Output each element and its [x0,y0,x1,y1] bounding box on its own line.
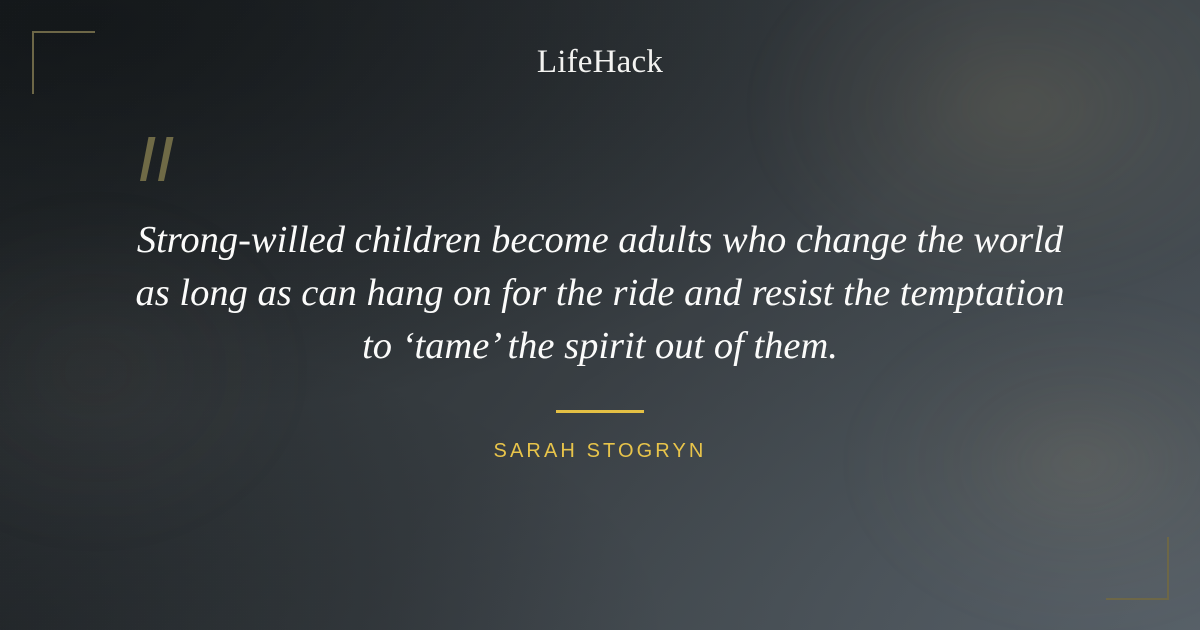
attribution-divider [556,410,644,413]
quote-text: Strong-willed children become adults who… [80,214,1120,373]
author-name: SARAH STOGRYN [0,438,1200,464]
brand-logo: LifeHack [0,41,1200,83]
quote-line-2: as long as can hang on for the ride and … [80,267,1120,320]
quote-line-3: to ‘tame’ the spirit out of them. [80,320,1120,373]
quote-line-1: Strong-willed children become adults who… [80,214,1120,267]
quote-card: LifeHack Strong-willed children become a… [0,0,1200,630]
corner-bracket-bottom-right-icon [1106,537,1169,600]
quote-mark-icon [128,129,188,201]
